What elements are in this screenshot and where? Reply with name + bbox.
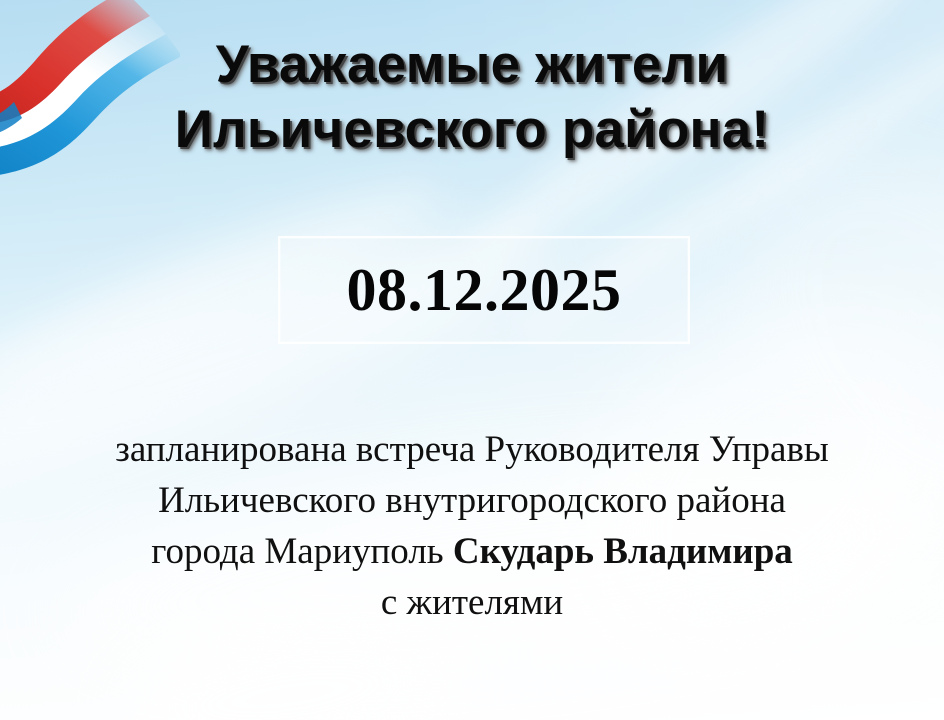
heading-line-2: Ильичевского района!: [0, 101, 944, 158]
body-line-3-prefix: города Мариуполь: [151, 531, 453, 572]
body-line-2: Ильичевского внутригородского района: [0, 475, 944, 526]
date-value: 08.12.2025: [347, 260, 622, 320]
announcement-poster: Уважаемые жители Ильичевского района! 08…: [0, 0, 944, 720]
body-line-1: запланирована встреча Руководителя Управ…: [0, 424, 944, 475]
body-line-4: с жителями: [0, 577, 944, 628]
heading-line-1: Уважаемые жители: [0, 36, 944, 93]
poster-heading: Уважаемые жители Ильичевского района!: [0, 36, 944, 158]
body-line-3: города Мариуполь Скударь Владимира: [0, 526, 944, 577]
official-name: Скударь Владимира: [453, 531, 793, 572]
poster-body-text: запланирована встреча Руководителя Управ…: [0, 424, 944, 628]
date-box: 08.12.2025: [278, 236, 690, 344]
